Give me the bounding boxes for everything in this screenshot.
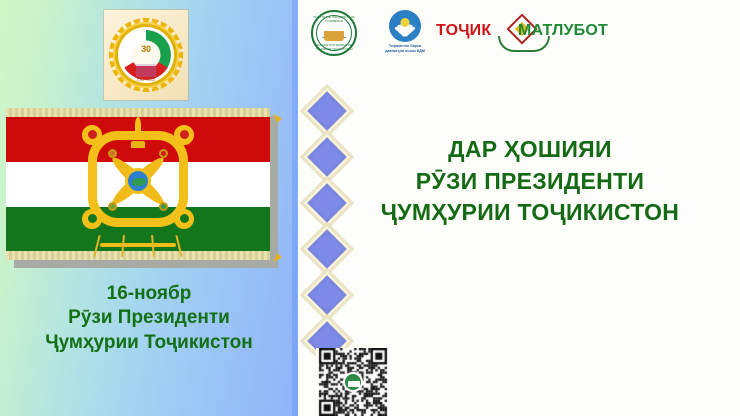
anniversary-number: 30 — [141, 44, 150, 54]
left-caption-date: 16-ноябр — [0, 282, 298, 306]
globe-icon — [125, 168, 151, 194]
emblem-crown-icon — [131, 141, 145, 148]
university-seal-ring: TAJIK STATE UNIVERSITY OF COMMERCE ДОНИШ… — [311, 10, 357, 56]
anniversary-emblem: 30 1992 - 2022 — [104, 10, 188, 100]
cis-caption: Тоҷикистон барои давлатҳои аъзои ИДМ — [376, 44, 434, 54]
university-seal-bottom-text: ДОНИШГОҲИ ДАВЛАТИИ ТИҶОРАТИ ТОҶИКИСТОН — [313, 43, 355, 51]
emblem-dot-1 — [108, 149, 117, 158]
cis-fan-icon — [394, 16, 416, 36]
emblem-knob-top-right — [174, 125, 194, 145]
emblem-dot-3 — [108, 202, 117, 211]
page-title: ДАР ҲОШИЯИ РӮЗИ ПРЕЗИДЕНТИ ҶУМҲУРИИ ТОҶИ… — [330, 134, 730, 229]
left-caption-line2: Рӯзи Президенти — [0, 306, 298, 330]
headline-line3: ҶУМҲУРИИ ТОҶИКИСТОН — [330, 197, 730, 229]
cis-circle-icon — [389, 10, 421, 42]
left-caption: 16-ноябр Рӯзи Президенти Ҷумҳурии Тоҷики… — [0, 282, 298, 355]
parliament-building-icon — [136, 64, 156, 77]
logo-row: TAJIK STATE UNIVERSITY OF COMMERCE ДОНИШ… — [304, 6, 740, 62]
cis-sun-icon — [401, 18, 410, 27]
qr-code[interactable] — [316, 348, 390, 416]
emblem-dot-2 — [159, 149, 168, 158]
emblem-dot-4 — [159, 202, 168, 211]
cis-emblem-logo: Тоҷикистон барои давлатҳои аъзои ИДМ — [376, 8, 434, 62]
book-base-icon — [324, 31, 344, 41]
emblem-base-bar — [100, 243, 176, 247]
emblem-knob-top-left — [82, 125, 102, 145]
left-caption-line3: Ҷумҳурии Тоҷикистон — [0, 331, 298, 355]
tojikmatlubot-word-green: МАТЛУБОТ — [518, 22, 608, 40]
flag-gold-emblem — [82, 119, 194, 243]
emblem-knob-bottom-right — [174, 209, 194, 229]
tojikmatlubot-word-red: ТОҶИК — [436, 22, 491, 40]
tojikmatlubot-logo: ТОҶИК МАТЛУБОТ — [436, 12, 608, 56]
tajikistan-presidential-standard — [6, 108, 278, 268]
emblem-knob-bottom-left — [82, 209, 102, 229]
cis-caption-line2: давлатҳои аъзои ИДМ — [376, 49, 434, 54]
headline-line1: ДАР ҲОШИЯИ — [330, 134, 730, 166]
flag-body — [6, 108, 270, 260]
tajik-state-university-logo: TAJIK STATE UNIVERSITY OF COMMERCE ДОНИШ… — [308, 8, 360, 58]
headline-line2: РӮЗИ ПРЕЗИДЕНТИ — [330, 166, 730, 198]
university-seal-top-text: TAJIK STATE UNIVERSITY OF COMMERCE — [313, 15, 355, 23]
slide-canvas: 30 1992 - 2022 — [0, 0, 740, 416]
flag-fringe-top — [6, 108, 270, 117]
flag-fringe-bottom — [6, 251, 270, 260]
qr-center-logo-icon — [343, 372, 363, 392]
anniversary-years: 1992 - 2022 — [137, 78, 156, 82]
emblem-ring: 30 1992 - 2022 — [118, 27, 174, 83]
